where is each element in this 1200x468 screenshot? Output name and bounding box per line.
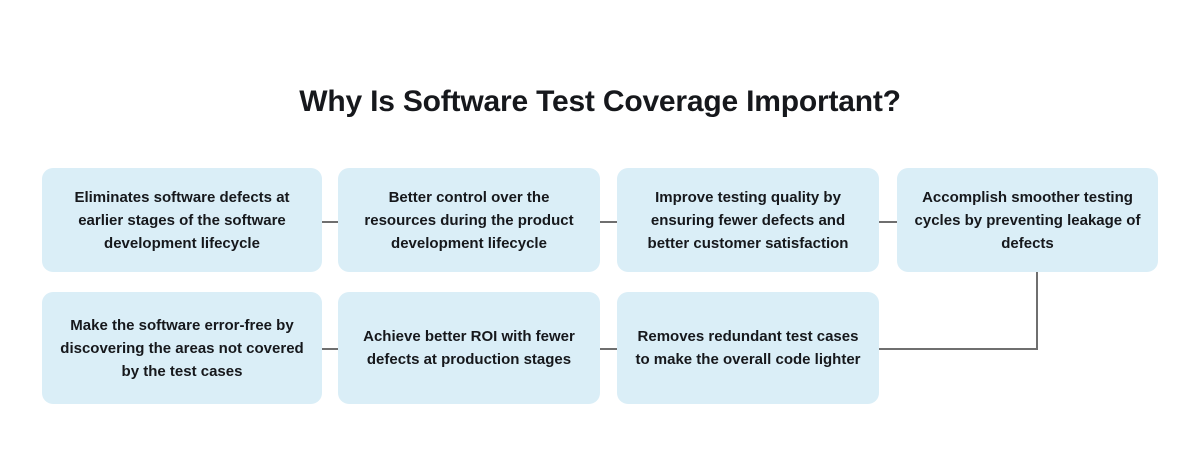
benefit-card-2[interactable]: Better control over the resources during… xyxy=(338,168,600,272)
connector-row2-card1-card2 xyxy=(322,348,338,350)
benefit-card-5[interactable]: Make the software error-free by discover… xyxy=(42,292,322,404)
benefit-card-6-label: Achieve better ROI with fewer defects at… xyxy=(352,325,586,371)
connector-elbow-horizontal-to-card7 xyxy=(879,348,1038,350)
benefit-card-6[interactable]: Achieve better ROI with fewer defects at… xyxy=(338,292,600,404)
connector-row2-card2-card3 xyxy=(600,348,617,350)
benefit-card-1-label: Eliminates software defects at earlier s… xyxy=(56,186,308,255)
benefit-card-2-label: Better control over the resources during… xyxy=(352,186,586,255)
benefit-card-4[interactable]: Accomplish smoother testing cycles by pr… xyxy=(897,168,1158,272)
benefit-card-3-label: Improve testing quality by ensuring fewe… xyxy=(631,186,865,255)
benefit-card-5-label: Make the software error-free by discover… xyxy=(56,314,308,383)
benefit-card-7-label: Removes redundant test cases to make the… xyxy=(631,325,865,371)
connector-row1-card3-card4 xyxy=(879,221,897,223)
page-title: Why Is Software Test Coverage Important? xyxy=(0,82,1200,122)
benefit-card-1[interactable]: Eliminates software defects at earlier s… xyxy=(42,168,322,272)
connector-row1-card1-card2 xyxy=(322,221,338,223)
benefit-card-4-label: Accomplish smoother testing cycles by pr… xyxy=(911,186,1144,255)
connector-elbow-vertical-card4 xyxy=(1036,272,1038,350)
benefit-card-3[interactable]: Improve testing quality by ensuring fewe… xyxy=(617,168,879,272)
connector-row1-card2-card3 xyxy=(600,221,617,223)
infographic-canvas: Why Is Software Test Coverage Important?… xyxy=(0,0,1200,468)
benefit-card-7[interactable]: Removes redundant test cases to make the… xyxy=(617,292,879,404)
